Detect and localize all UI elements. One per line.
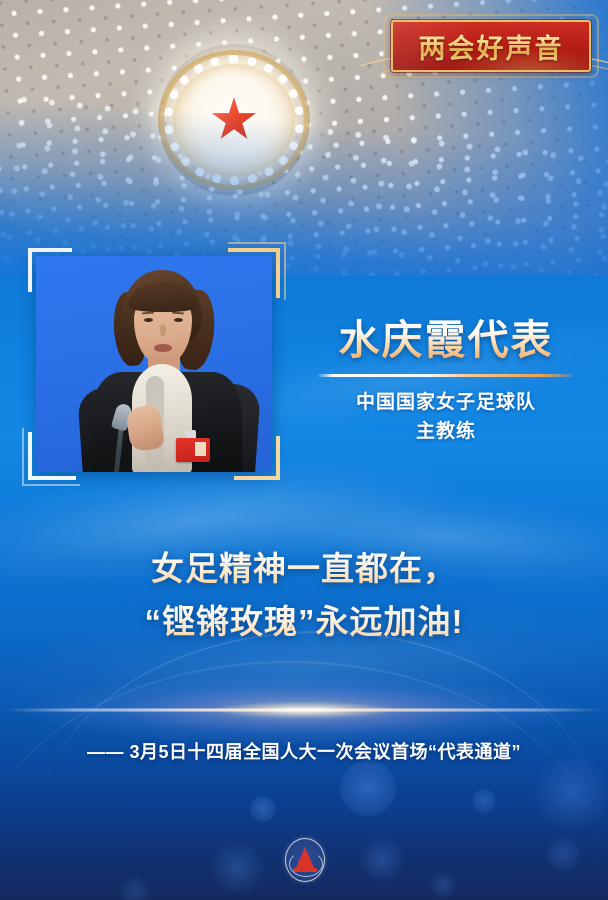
flare-core	[219, 702, 389, 718]
speaker-role-line1: 中国国家女子足球队	[306, 388, 586, 417]
portrait-hand	[125, 404, 165, 452]
speaker-photo-frame	[36, 256, 272, 472]
portrait-mouth	[154, 344, 172, 352]
quote-block: 女足精神一直都在， “铿锵玫瑰”永远加油!	[24, 542, 584, 649]
speaker-name: 水庆霞代表	[306, 318, 586, 363]
banner-label: 两会好声音	[419, 27, 564, 66]
delegate-badge	[176, 438, 210, 462]
quote-line-1: 女足精神一直都在，	[24, 542, 584, 595]
portrait-nose	[160, 324, 166, 336]
bokeh-circle	[120, 876, 150, 900]
quote-line-2: “铿锵玫瑰”永远加油!	[24, 595, 584, 648]
portrait-eye-right	[174, 318, 183, 322]
source-caption: —— 3月5日十四届全国人大一次会议首场“代表通道”	[24, 738, 584, 764]
emblem-arc	[289, 851, 323, 877]
emblem-ring	[285, 838, 325, 882]
speaker-role-line2: 主教练	[306, 417, 586, 446]
poster-canvas: 两会好声音	[0, 0, 608, 900]
name-divider	[318, 374, 572, 377]
npc-emblem-logo	[285, 838, 323, 880]
bokeh-circle	[430, 872, 456, 898]
program-banner: 两会好声音	[391, 20, 591, 72]
portrait-eye-left	[144, 318, 153, 322]
speaker-photo	[36, 256, 272, 472]
speaker-role: 中国国家女子足球队 主教练	[306, 388, 586, 447]
